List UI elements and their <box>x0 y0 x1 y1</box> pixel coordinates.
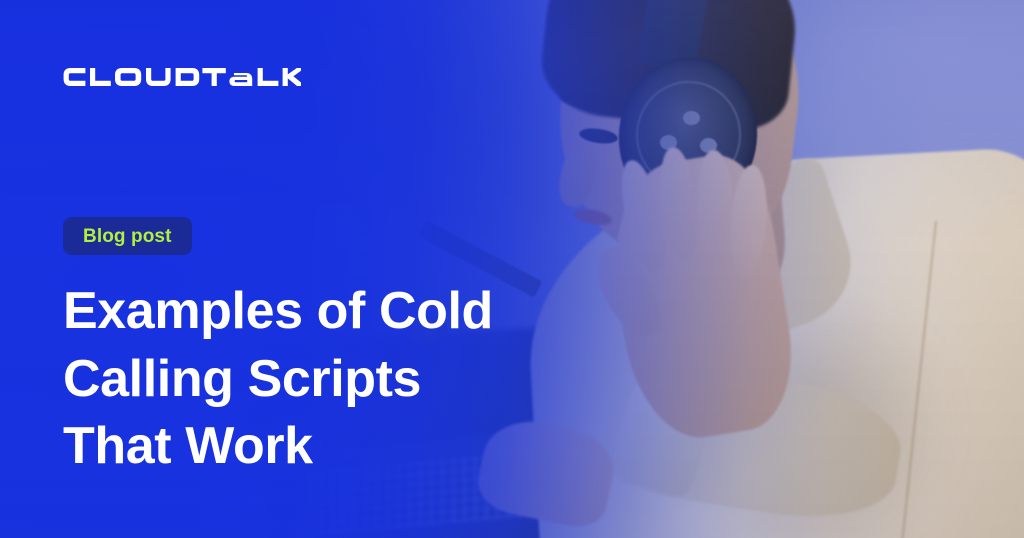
cloudtalk-logo[interactable] <box>63 60 301 94</box>
cover-content: Blog post Examples of Cold Calling Scrip… <box>0 0 1024 538</box>
headline-line-3: That Work <box>63 413 623 481</box>
headline-line-1: Examples of Cold <box>63 278 623 346</box>
blog-post-cover: Blog post Examples of Cold Calling Scrip… <box>0 0 1024 538</box>
headline-line-2: Calling Scripts <box>63 346 623 414</box>
page-title: Examples of Cold Calling Scripts That Wo… <box>63 278 623 481</box>
cloudtalk-logo-mark <box>63 60 301 94</box>
status-badge: Blog post <box>63 217 192 255</box>
